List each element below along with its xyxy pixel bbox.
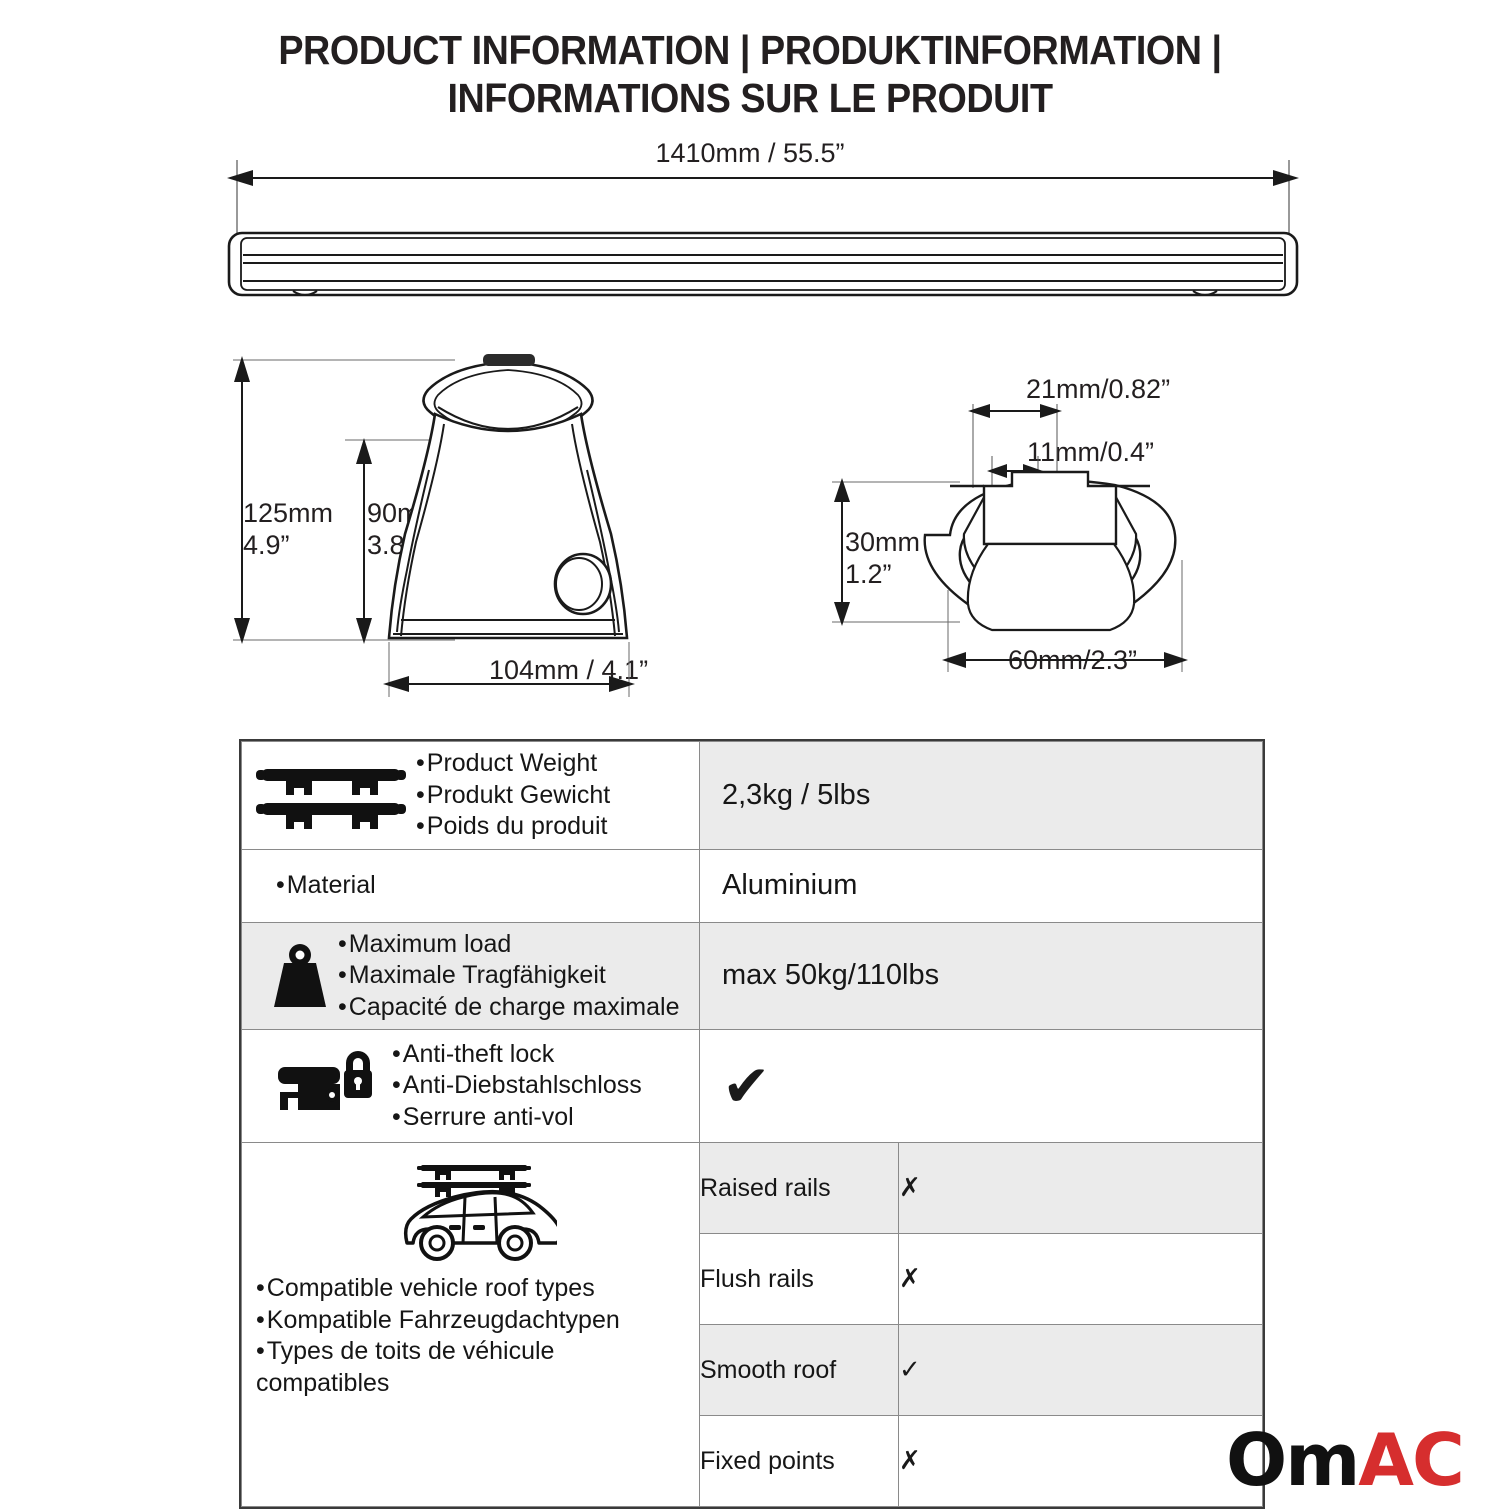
table-row: Material Aluminium <box>242 849 1263 922</box>
bar-cross-section-diagram <box>820 360 1280 690</box>
title-line-1: PRODUCT INFORMATION | PRODUKTINFORMATION… <box>278 27 1221 73</box>
roof-type-name: Flush rails <box>700 1234 899 1325</box>
label-line: Produkt Gewicht <box>416 780 691 812</box>
label-line: Kompatible Fahrzeugdachtypen <box>256 1305 689 1337</box>
row-labels: Maximum load Maximale Tragfähigkeit Capa… <box>338 929 691 1024</box>
product-weight-value: 2,3kg / 5lbs <box>700 779 1262 812</box>
label-line: Material <box>276 870 691 902</box>
roof-type-mark: ✗ <box>899 1143 1263 1234</box>
table-row: Anti-theft lock Anti-Diebstahlschloss Se… <box>242 1030 1263 1143</box>
spec-table: Product Weight Produkt Gewicht Poids du … <box>239 739 1265 1509</box>
label-line: Compatible vehicle roof types <box>256 1273 689 1305</box>
roof-type-mark: ✗ <box>899 1234 1263 1325</box>
label-line: Serrure anti-vol <box>392 1102 691 1134</box>
logo-red-text: AC <box>1358 1418 1463 1502</box>
material-value: Aluminium <box>700 869 1262 902</box>
page-title: PRODUCT INFORMATION | PRODUKTINFORMATION… <box>60 26 1440 123</box>
roof-type-row: Flush rails ✗ <box>700 1234 1262 1325</box>
product-information-sheet: PRODUCT INFORMATION | PRODUKTINFORMATION… <box>0 0 1500 1500</box>
max-load-value: max 50kg/110lbs <box>700 959 1262 992</box>
roof-type-row: Smooth roof ✓ <box>700 1325 1262 1416</box>
logo-dark-text: Om <box>1226 1418 1358 1502</box>
roof-type-row: Raised rails ✗ <box>700 1143 1262 1234</box>
tower-foot-diagram <box>225 352 695 712</box>
table-row: Product Weight Produkt Gewicht Poids du … <box>242 742 1263 850</box>
label-line: Maximale Tragfähigkeit <box>338 960 691 992</box>
roof-type-name: Fixed points <box>700 1416 899 1507</box>
table-row: Compatible vehicle roof types Kompatible… <box>242 1143 1263 1507</box>
label-line: Anti-theft lock <box>392 1039 691 1071</box>
roof-type-subtable: Raised rails ✗ Flush rails ✗ Smooth roof… <box>700 1143 1262 1506</box>
title-line-2: INFORMATIONS SUR LE PRODUIT <box>60 74 1440 122</box>
omac-logo: OmAC <box>1226 1424 1463 1496</box>
label-line: Poids du produit <box>416 811 691 843</box>
label-line: Anti-Diebstahlschloss <box>392 1070 691 1102</box>
crossbars-icon <box>256 761 406 829</box>
roof-type-row: Fixed points ✗ <box>700 1416 1262 1507</box>
anti-theft-check-mark: ✔ <box>700 1057 1262 1115</box>
car-roof-icon <box>389 1155 557 1267</box>
lock-icon <box>274 1051 378 1121</box>
label-line: Capacité de charge maximale <box>338 992 691 1024</box>
row-labels: Anti-theft lock Anti-Diebstahlschloss Se… <box>392 1039 691 1134</box>
row-labels: Product Weight Produkt Gewicht Poids du … <box>416 748 691 843</box>
label-line: Types de toits de véhicule compatibles <box>256 1336 689 1399</box>
roof-type-mark: ✓ <box>899 1325 1263 1416</box>
weight-icon <box>268 943 332 1009</box>
roof-type-mark: ✗ <box>899 1416 1263 1507</box>
label-line: Product Weight <box>416 748 691 780</box>
top-bar-diagram <box>215 160 1315 340</box>
roof-type-name: Smooth roof <box>700 1325 899 1416</box>
row-labels: Compatible vehicle roof types Kompatible… <box>256 1273 689 1399</box>
row-labels: Material <box>276 870 691 902</box>
roof-type-name: Raised rails <box>700 1143 899 1234</box>
label-line: Maximum load <box>338 929 691 961</box>
table-row: Maximum load Maximale Tragfähigkeit Capa… <box>242 922 1263 1030</box>
